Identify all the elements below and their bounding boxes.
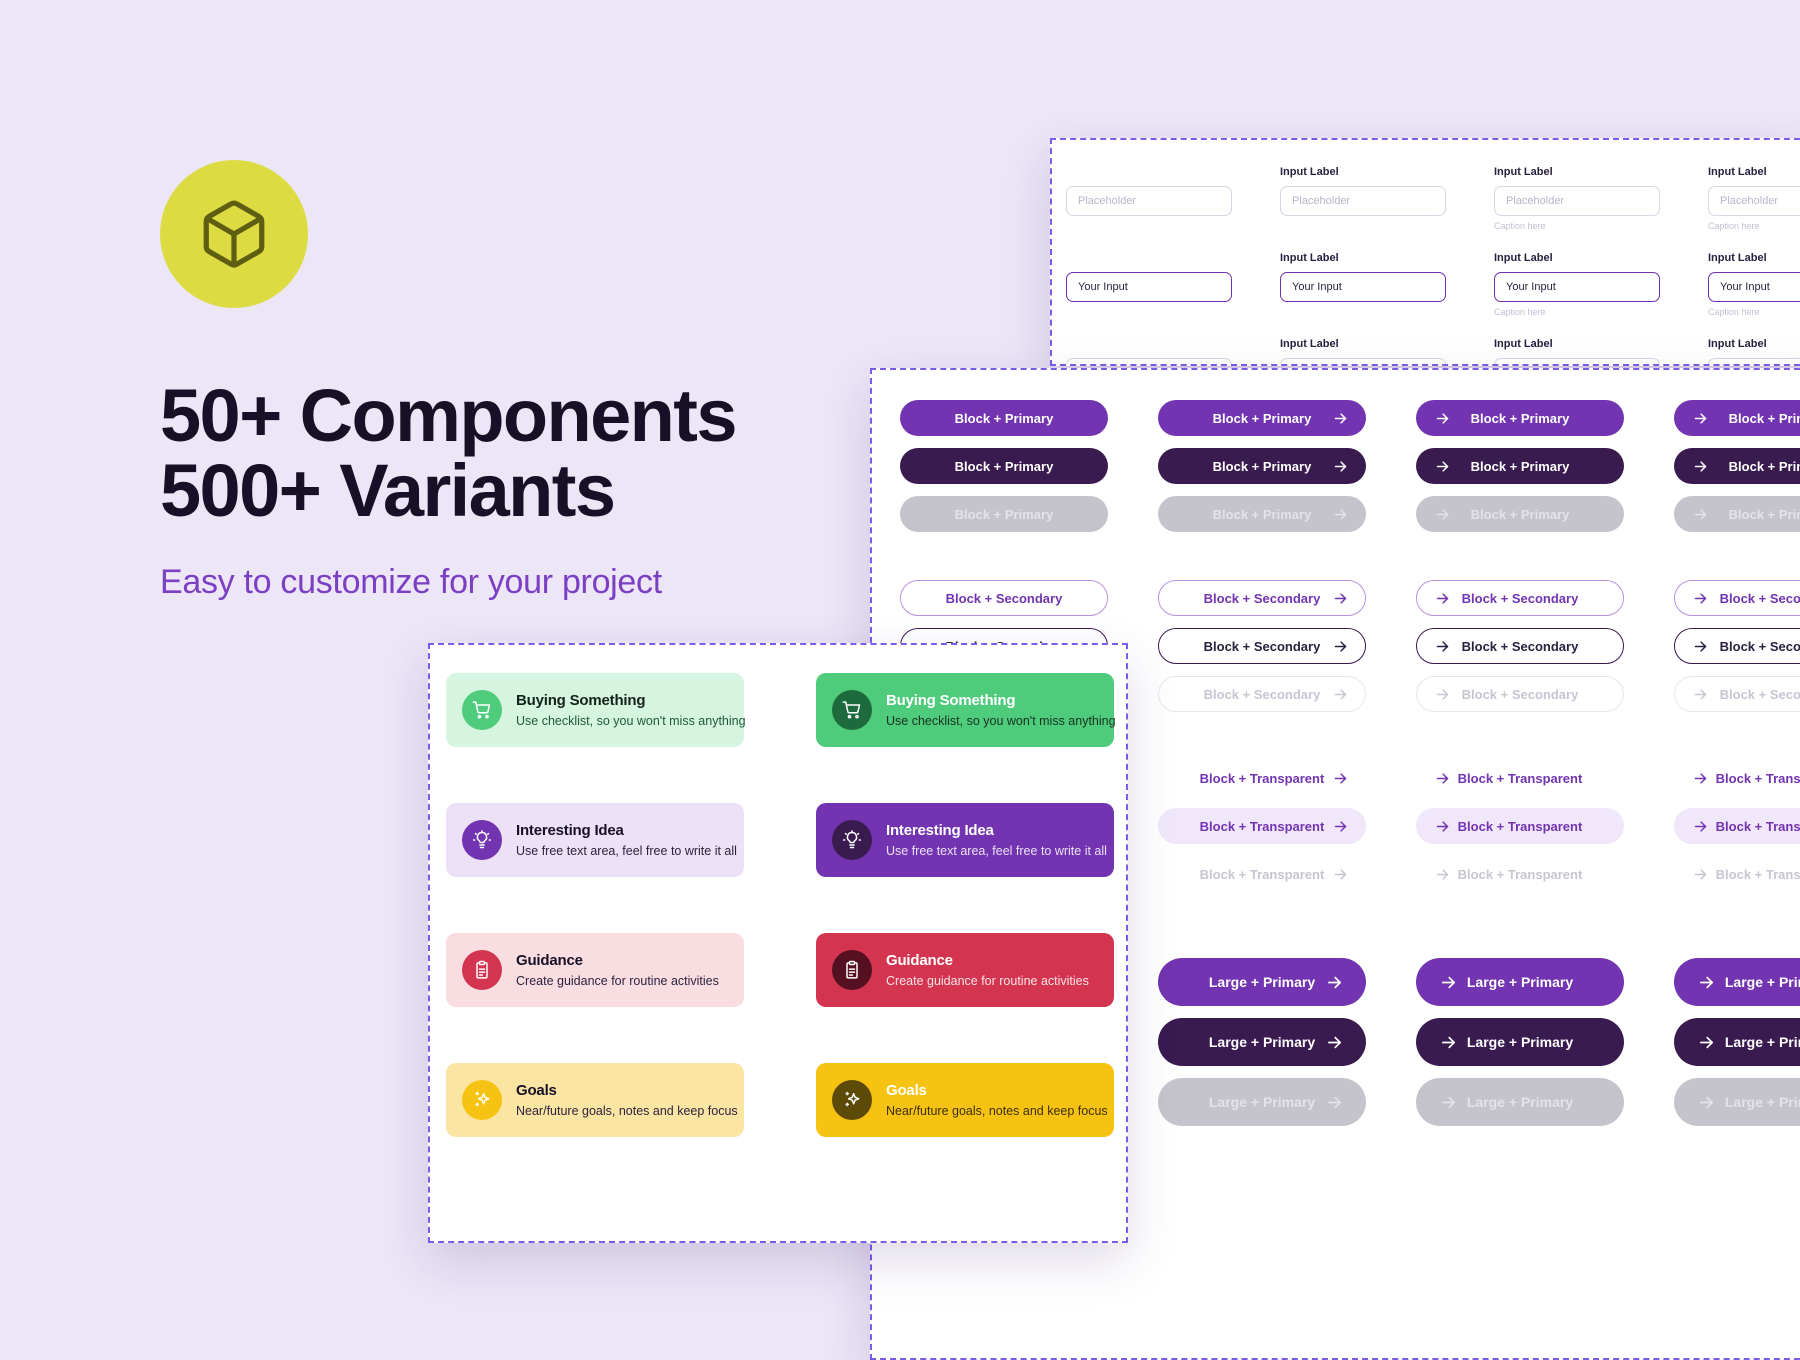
button-label: Large + Primary bbox=[1715, 1094, 1800, 1110]
button-label: Block + Primary bbox=[1709, 507, 1800, 522]
arrow-right-icon bbox=[1331, 459, 1349, 474]
input-label: Input Label bbox=[1494, 338, 1660, 352]
spacer bbox=[1416, 436, 1624, 448]
card-title: Goals bbox=[516, 1082, 728, 1099]
text-input[interactable]: Your Input bbox=[1708, 358, 1800, 366]
card-text: Interesting IdeaUse free text area, feel… bbox=[886, 822, 1098, 858]
arrow-right-icon bbox=[1691, 771, 1709, 786]
spacer bbox=[1158, 664, 1366, 676]
block-transparent-button[interactable]: Block + Transparent bbox=[1674, 856, 1800, 892]
button-label: Block + Primary bbox=[1193, 411, 1331, 426]
button-label: Block + Secondary bbox=[1451, 591, 1589, 606]
large-primary-button[interactable]: Large + Primary bbox=[1158, 1078, 1366, 1126]
card-title: Buying Something bbox=[516, 692, 728, 709]
button-label: Block + Primary bbox=[1451, 411, 1589, 426]
input-field: Input LabelPlaceholderCaption here bbox=[1280, 166, 1446, 232]
large-primary-button[interactable]: Large + Primary bbox=[1416, 1018, 1624, 1066]
spacer bbox=[1674, 892, 1800, 958]
input-label: Input Label bbox=[1708, 252, 1800, 266]
input-caption: Caption here bbox=[1494, 221, 1660, 232]
button-label: Block + Secondary bbox=[1451, 687, 1589, 702]
button-label: Block + Primary bbox=[1709, 411, 1800, 426]
arrow-right-icon bbox=[1691, 411, 1709, 426]
spacer bbox=[1416, 1066, 1624, 1078]
arrow-right-icon bbox=[1433, 639, 1451, 654]
arrow-right-icon bbox=[1331, 687, 1349, 702]
button-label: Block + Primary bbox=[917, 411, 1091, 426]
spacer bbox=[900, 532, 1108, 580]
large-primary-button[interactable]: Large + Primary bbox=[1158, 1018, 1366, 1066]
spacer bbox=[1674, 844, 1800, 856]
arrow-right-icon bbox=[1691, 819, 1709, 834]
block-primary-button[interactable]: Block + Primary bbox=[1416, 448, 1624, 484]
card-description: Create guidance for routine activities bbox=[886, 974, 1089, 988]
input-field: Input LabelYour InputCaption here bbox=[1494, 252, 1660, 318]
large-primary-button[interactable]: Large + Primary bbox=[1158, 958, 1366, 1006]
arrow-right-icon bbox=[1325, 1094, 1343, 1111]
button-label: Block + Transparent bbox=[1451, 819, 1589, 834]
card-text: Buying SomethingUse checklist, so you wo… bbox=[516, 692, 728, 728]
card-title: Guidance bbox=[516, 952, 719, 969]
button-label: Block + Secondary bbox=[1193, 591, 1331, 606]
input-field: Input LabelYour InputCaption here bbox=[1708, 338, 1800, 366]
feature-card[interactable]: Interesting IdeaUse free text area, feel… bbox=[446, 803, 744, 877]
block-secondary-button[interactable]: Block + Secondary bbox=[1674, 580, 1800, 616]
block-primary-button[interactable]: Block + Primary bbox=[900, 496, 1108, 532]
clipboard-icon bbox=[462, 950, 502, 990]
spacer bbox=[1158, 892, 1366, 958]
spacer bbox=[1158, 484, 1366, 496]
button-label: Large + Primary bbox=[1457, 1094, 1583, 1110]
card-description: Create guidance for routine activities bbox=[516, 974, 719, 988]
spacer bbox=[1674, 436, 1800, 448]
card-text: GoalsNear/future goals, notes and keep f… bbox=[886, 1082, 1098, 1118]
button-label: Block + Secondary bbox=[917, 591, 1091, 606]
card-text: GuidanceCreate guidance for routine acti… bbox=[886, 952, 1089, 988]
arrow-right-icon bbox=[1691, 687, 1709, 702]
arrow-right-icon bbox=[1691, 591, 1709, 606]
card-title: Interesting Idea bbox=[516, 822, 728, 839]
spacer bbox=[1674, 712, 1800, 760]
design-system-showcase: 50+ Components 500+ Variants Easy to cus… bbox=[0, 0, 1800, 1360]
feature-card[interactable]: GuidanceCreate guidance for routine acti… bbox=[816, 933, 1114, 1007]
arrow-right-icon bbox=[1331, 591, 1349, 606]
arrow-right-icon bbox=[1325, 1034, 1343, 1051]
text-input[interactable]: Your Input bbox=[1494, 358, 1660, 366]
button-label: Large + Primary bbox=[1715, 974, 1800, 990]
spacer bbox=[1674, 484, 1800, 496]
arrow-right-icon bbox=[1331, 507, 1349, 522]
spacer bbox=[1416, 796, 1624, 808]
input-label: Input Label bbox=[1280, 166, 1446, 180]
card-description: Use free text area, feel free to write i… bbox=[886, 844, 1098, 858]
spacer bbox=[1416, 484, 1624, 496]
card-text: GuidanceCreate guidance for routine acti… bbox=[516, 952, 719, 988]
button-label: Block + Transparent bbox=[1193, 771, 1331, 786]
spacer bbox=[1416, 844, 1624, 856]
input-label: Input Label bbox=[1494, 166, 1660, 180]
arrow-right-icon bbox=[1331, 411, 1349, 426]
block-secondary-button[interactable]: Block + Secondary bbox=[1416, 580, 1624, 616]
spacer bbox=[900, 484, 1108, 496]
arrow-right-icon bbox=[1331, 819, 1349, 834]
input-field: Input LabelPlaceholderCaption here bbox=[1708, 166, 1800, 232]
card-title: Interesting Idea bbox=[886, 822, 1098, 839]
feature-card[interactable]: GoalsNear/future goals, notes and keep f… bbox=[816, 1063, 1114, 1137]
arrow-right-icon bbox=[1697, 974, 1715, 991]
text-input[interactable]: Placeholder bbox=[1708, 186, 1800, 216]
button-label: Block + Primary bbox=[917, 507, 1091, 522]
spacer bbox=[1674, 664, 1800, 676]
button-label: Block + Primary bbox=[1451, 507, 1589, 522]
block-secondary-button[interactable]: Block + Secondary bbox=[1416, 628, 1624, 664]
button-column: Block + PrimaryBlock + PrimaryBlock + Pr… bbox=[1416, 400, 1624, 1126]
feature-card[interactable]: Buying SomethingUse checklist, so you wo… bbox=[816, 673, 1114, 747]
button-label: Block + Primary bbox=[1709, 459, 1800, 474]
large-primary-button[interactable]: Large + Primary bbox=[1674, 958, 1800, 1006]
card-description: Near/future goals, notes and keep focus bbox=[516, 1104, 728, 1118]
input-field: Input LabelPlaceholderCaption here bbox=[1494, 166, 1660, 232]
button-label: Block + Transparent bbox=[1709, 771, 1800, 786]
arrow-right-icon bbox=[1691, 507, 1709, 522]
button-label: Block + Transparent bbox=[1193, 867, 1331, 882]
card-title: Guidance bbox=[886, 952, 1089, 969]
block-primary-button[interactable]: Block + Primary bbox=[1674, 400, 1800, 436]
arrow-right-icon bbox=[1691, 639, 1709, 654]
button-label: Large + Primary bbox=[1457, 1034, 1583, 1050]
feature-card[interactable]: Buying SomethingUse checklist, so you wo… bbox=[446, 673, 744, 747]
card-text: Buying SomethingUse checklist, so you wo… bbox=[886, 692, 1098, 728]
input-field: Input LabelYour InputCaption here bbox=[1494, 338, 1660, 366]
button-column: Block + PrimaryBlock + PrimaryBlock + Pr… bbox=[1158, 400, 1366, 1126]
logo-badge bbox=[160, 160, 308, 308]
card-description: Use free text area, feel free to write i… bbox=[516, 844, 728, 858]
button-label: Block + Transparent bbox=[1193, 819, 1331, 834]
spacer bbox=[1158, 1066, 1366, 1078]
button-label: Block + Primary bbox=[1193, 507, 1331, 522]
spacer bbox=[1674, 616, 1800, 628]
card-text: Interesting IdeaUse free text area, feel… bbox=[516, 822, 728, 858]
block-transparent-button[interactable]: Block + Transparent bbox=[1674, 808, 1800, 844]
spacer bbox=[1158, 616, 1366, 628]
text-input[interactable]: Placeholder bbox=[1494, 186, 1660, 216]
hero-section: 50+ Components 500+ Variants Easy to cus… bbox=[160, 160, 920, 602]
spacer bbox=[1416, 664, 1624, 676]
spacer bbox=[1674, 1066, 1800, 1078]
block-transparent-button[interactable]: Block + Transparent bbox=[1158, 808, 1366, 844]
button-label: Block + Primary bbox=[1193, 459, 1331, 474]
arrow-right-icon bbox=[1439, 1034, 1457, 1051]
input-field: Input LabelYour InputCaption here bbox=[1066, 252, 1232, 318]
large-primary-button[interactable]: Large + Primary bbox=[1674, 1018, 1800, 1066]
arrow-right-icon bbox=[1439, 974, 1457, 991]
spacer bbox=[900, 436, 1108, 448]
feature-card[interactable]: Interesting IdeaUse free text area, feel… bbox=[816, 803, 1114, 877]
arrow-right-icon bbox=[1331, 639, 1349, 654]
button-label: Block + Primary bbox=[1451, 459, 1589, 474]
spacer bbox=[1674, 796, 1800, 808]
block-secondary-button[interactable]: Block + Secondary bbox=[1158, 676, 1366, 712]
input-caption: Caption here bbox=[1708, 307, 1800, 318]
card-description: Near/future goals, notes and keep focus bbox=[886, 1104, 1098, 1118]
shopping-cart-icon bbox=[462, 690, 502, 730]
arrow-right-icon bbox=[1697, 1094, 1715, 1111]
button-label: Block + Secondary bbox=[1193, 639, 1331, 654]
spacer bbox=[1158, 844, 1366, 856]
page-subtitle: Easy to customize for your project bbox=[160, 563, 920, 602]
card-description: Use checklist, so you won't miss anythin… bbox=[516, 714, 728, 728]
block-primary-button[interactable]: Block + Primary bbox=[900, 448, 1108, 484]
arrow-right-icon bbox=[1433, 459, 1451, 474]
spacer bbox=[1158, 532, 1366, 580]
text-input[interactable]: Your Input bbox=[1494, 272, 1660, 302]
block-transparent-button[interactable]: Block + Transparent bbox=[1416, 760, 1624, 796]
feature-card[interactable]: GuidanceCreate guidance for routine acti… bbox=[446, 933, 744, 1007]
text-input[interactable]: Your Input bbox=[1280, 272, 1446, 302]
button-label: Block + Transparent bbox=[1451, 867, 1589, 882]
button-label: Block + Secondary bbox=[1709, 639, 1800, 654]
shopping-cart-icon bbox=[832, 690, 872, 730]
input-caption: Caption here bbox=[1494, 307, 1660, 318]
button-label: Block + Secondary bbox=[1709, 591, 1800, 606]
button-label: Block + Secondary bbox=[1709, 687, 1800, 702]
arrow-right-icon bbox=[1439, 1094, 1457, 1111]
text-input[interactable]: Your Input bbox=[1066, 358, 1232, 366]
card-description: Use checklist, so you won't miss anythin… bbox=[886, 714, 1098, 728]
button-label: Block + Transparent bbox=[1451, 771, 1589, 786]
arrow-right-icon bbox=[1433, 867, 1451, 882]
block-primary-button[interactable]: Block + Primary bbox=[1158, 448, 1366, 484]
text-input[interactable]: Your Input bbox=[1280, 358, 1446, 366]
arrow-right-icon bbox=[1691, 867, 1709, 882]
block-primary-button[interactable]: Block + Primary bbox=[1158, 400, 1366, 436]
feature-card[interactable]: GoalsNear/future goals, notes and keep f… bbox=[446, 1063, 744, 1137]
spacer bbox=[900, 616, 1108, 628]
spacer bbox=[1158, 1006, 1366, 1018]
button-label: Large + Primary bbox=[1199, 974, 1325, 990]
spacer bbox=[1158, 436, 1366, 448]
arrow-right-icon bbox=[1433, 507, 1451, 522]
block-transparent-button[interactable]: Block + Transparent bbox=[1674, 760, 1800, 796]
button-label: Large + Primary bbox=[1199, 1034, 1325, 1050]
sparkle-icon bbox=[462, 1080, 502, 1120]
block-primary-button[interactable]: Block + Primary bbox=[1674, 496, 1800, 532]
spacer bbox=[1416, 532, 1624, 580]
block-secondary-button[interactable]: Block + Secondary bbox=[1674, 628, 1800, 664]
input-field: Input LabelYour InputCaption here bbox=[1280, 252, 1446, 318]
card-text: GoalsNear/future goals, notes and keep f… bbox=[516, 1082, 728, 1118]
button-label: Block + Transparent bbox=[1709, 867, 1800, 882]
lightbulb-icon bbox=[832, 820, 872, 860]
spacer bbox=[1674, 532, 1800, 580]
arrow-right-icon bbox=[1325, 974, 1343, 991]
spacer bbox=[1158, 712, 1366, 760]
input-field: Input LabelYour InputCaption here bbox=[1066, 338, 1232, 366]
button-label: Block + Primary bbox=[917, 459, 1091, 474]
cards-showcase-panel: Buying SomethingUse checklist, so you wo… bbox=[428, 643, 1128, 1243]
button-label: Block + Secondary bbox=[1193, 687, 1331, 702]
input-grid: Input LabelPlaceholderCaption hereInput … bbox=[1052, 166, 1800, 366]
input-label: Input Label bbox=[1494, 252, 1660, 266]
input-label: Input Label bbox=[1708, 338, 1800, 352]
cards-grid: Buying SomethingUse checklist, so you wo… bbox=[430, 673, 1126, 1137]
button-label: Block + Secondary bbox=[1451, 639, 1589, 654]
text-input[interactable]: Placeholder bbox=[1280, 186, 1446, 216]
card-title: Goals bbox=[886, 1082, 1098, 1099]
button-label: Large + Primary bbox=[1715, 1034, 1800, 1050]
block-transparent-button[interactable]: Block + Transparent bbox=[1158, 856, 1366, 892]
arrow-right-icon bbox=[1433, 687, 1451, 702]
lightbulb-icon bbox=[462, 820, 502, 860]
block-primary-button[interactable]: Block + Primary bbox=[900, 400, 1108, 436]
arrow-right-icon bbox=[1331, 867, 1349, 882]
spacer bbox=[1416, 712, 1624, 760]
arrow-right-icon bbox=[1433, 411, 1451, 426]
block-primary-button[interactable]: Block + Primary bbox=[1674, 448, 1800, 484]
arrow-right-icon bbox=[1433, 591, 1451, 606]
block-transparent-button[interactable]: Block + Transparent bbox=[1158, 760, 1366, 796]
page-title: 50+ Components 500+ Variants bbox=[160, 378, 920, 529]
inputs-showcase-panel: Input LabelPlaceholderCaption hereInput … bbox=[1050, 138, 1800, 366]
arrow-right-icon bbox=[1697, 1034, 1715, 1051]
input-label: Input Label bbox=[1280, 338, 1446, 352]
input-label: Input Label bbox=[1708, 166, 1800, 180]
button-column: Block + PrimaryBlock + PrimaryBlock + Pr… bbox=[1674, 400, 1800, 1126]
sparkle-icon bbox=[832, 1080, 872, 1120]
large-primary-button[interactable]: Large + Primary bbox=[1416, 1078, 1624, 1126]
block-secondary-button[interactable]: Block + Secondary bbox=[1416, 676, 1624, 712]
input-field: Input LabelPlaceholderCaption here bbox=[1066, 166, 1232, 232]
button-label: Block + Transparent bbox=[1709, 819, 1800, 834]
block-transparent-button[interactable]: Block + Transparent bbox=[1416, 808, 1624, 844]
block-primary-button[interactable]: Block + Primary bbox=[1416, 400, 1624, 436]
spacer bbox=[1674, 1006, 1800, 1018]
block-secondary-button[interactable]: Block + Secondary bbox=[1158, 580, 1366, 616]
cube-icon bbox=[197, 197, 271, 271]
large-primary-button[interactable]: Large + Primary bbox=[1674, 1078, 1800, 1126]
arrow-right-icon bbox=[1433, 771, 1451, 786]
block-transparent-button[interactable]: Block + Transparent bbox=[1416, 856, 1624, 892]
block-primary-button[interactable]: Block + Primary bbox=[1416, 496, 1624, 532]
spacer bbox=[1416, 1006, 1624, 1018]
block-secondary-button[interactable]: Block + Secondary bbox=[1674, 676, 1800, 712]
large-primary-button[interactable]: Large + Primary bbox=[1416, 958, 1624, 1006]
arrow-right-icon bbox=[1331, 771, 1349, 786]
arrow-right-icon bbox=[1433, 819, 1451, 834]
button-label: Large + Primary bbox=[1199, 1094, 1325, 1110]
block-secondary-button[interactable]: Block + Secondary bbox=[900, 580, 1108, 616]
block-secondary-button[interactable]: Block + Secondary bbox=[1158, 628, 1366, 664]
input-label: Input Label bbox=[1280, 252, 1446, 266]
text-input[interactable]: Placeholder bbox=[1066, 186, 1232, 216]
text-input[interactable]: Your Input bbox=[1708, 272, 1800, 302]
spacer bbox=[1158, 796, 1366, 808]
input-field: Input LabelYour InputCaption here bbox=[1708, 252, 1800, 318]
button-label: Large + Primary bbox=[1457, 974, 1583, 990]
spacer bbox=[1416, 616, 1624, 628]
card-title: Buying Something bbox=[886, 692, 1098, 709]
input-field: Input LabelYour InputCaption here bbox=[1280, 338, 1446, 366]
input-caption: Caption here bbox=[1708, 221, 1800, 232]
clipboard-icon bbox=[832, 950, 872, 990]
arrow-right-icon bbox=[1691, 459, 1709, 474]
block-primary-button[interactable]: Block + Primary bbox=[1158, 496, 1366, 532]
text-input[interactable]: Your Input bbox=[1066, 272, 1232, 302]
spacer bbox=[1416, 892, 1624, 958]
